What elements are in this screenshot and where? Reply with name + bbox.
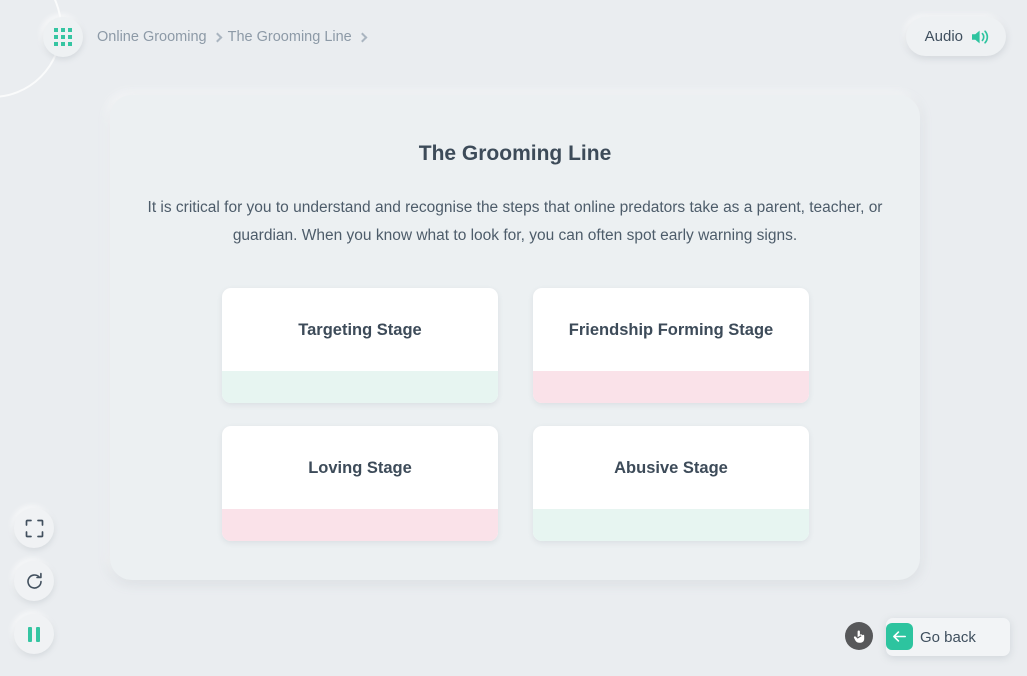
menu-grid-button[interactable]	[43, 17, 83, 57]
pause-button[interactable]	[14, 614, 54, 654]
stage-card-body: Abusive Stage	[533, 426, 809, 509]
audio-toggle-button[interactable]: Audio	[906, 17, 1006, 56]
page-title: The Grooming Line	[110, 142, 920, 166]
go-back-button[interactable]	[886, 623, 913, 650]
grid-icon	[54, 28, 72, 46]
restart-button[interactable]	[14, 561, 54, 601]
speaker-icon	[970, 28, 991, 46]
stage-card-abusive[interactable]: Abusive Stage	[533, 426, 809, 541]
topbar: Online Grooming The Grooming Line Audio	[0, 0, 1027, 76]
audio-label: Audio	[925, 28, 963, 45]
stage-card-strip	[533, 371, 809, 403]
stage-card-label: Targeting Stage	[298, 317, 421, 343]
stage-card-friendship-forming[interactable]: Friendship Forming Stage	[533, 288, 809, 403]
hand-cursor-icon	[853, 629, 866, 644]
fullscreen-icon	[25, 519, 44, 538]
stage-card-label: Loving Stage	[308, 455, 412, 481]
chevron-right-icon	[212, 32, 222, 42]
stage-card-body: Friendship Forming Stage	[533, 288, 809, 371]
stage-card-strip	[222, 371, 498, 403]
pause-icon	[28, 627, 40, 642]
stage-card-loving[interactable]: Loving Stage	[222, 426, 498, 541]
content-panel: The Grooming Line It is critical for you…	[110, 95, 920, 580]
stage-card-strip	[533, 509, 809, 541]
stage-card-grid: Targeting Stage Friendship Forming Stage…	[222, 288, 809, 564]
stage-card-body: Targeting Stage	[222, 288, 498, 371]
stage-card-row: Targeting Stage Friendship Forming Stage	[222, 288, 809, 403]
chevron-right-icon	[357, 32, 367, 42]
breadcrumb: Online Grooming The Grooming Line	[97, 29, 367, 45]
stage-card-label: Friendship Forming Stage	[569, 317, 773, 343]
hand-cursor-indicator	[845, 622, 873, 650]
go-back-label: Go back	[920, 629, 976, 646]
stage-card-targeting[interactable]: Targeting Stage	[222, 288, 498, 403]
fullscreen-button[interactable]	[14, 508, 54, 548]
stage-card-strip	[222, 509, 498, 541]
breadcrumb-item-online-grooming[interactable]: Online Grooming	[97, 29, 207, 45]
arrow-left-icon	[892, 630, 907, 643]
breadcrumb-item-the-grooming-line[interactable]: The Grooming Line	[228, 29, 352, 45]
stage-card-row: Loving Stage Abusive Stage	[222, 426, 809, 541]
stage-card-body: Loving Stage	[222, 426, 498, 509]
restart-icon	[25, 572, 44, 591]
intro-text: It is critical for you to understand and…	[144, 194, 886, 250]
stage-card-label: Abusive Stage	[614, 455, 728, 481]
